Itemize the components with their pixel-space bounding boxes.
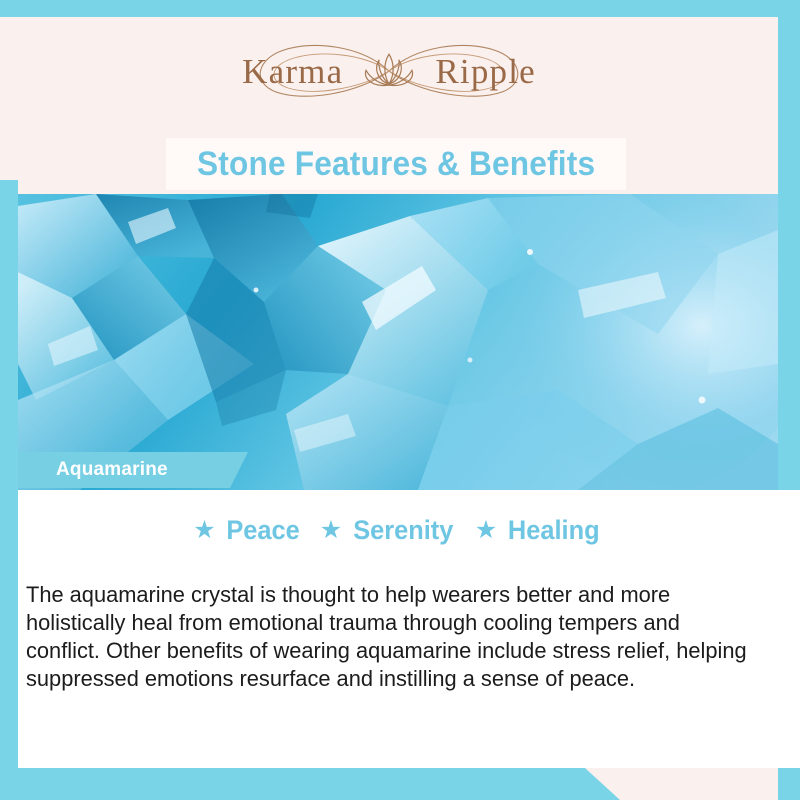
frame-band-left bbox=[0, 180, 18, 800]
brand-header: Karma Ripple bbox=[0, 17, 778, 125]
keyword-label: Healing bbox=[508, 515, 600, 546]
stone-name-banner: Aquamarine bbox=[18, 452, 248, 488]
stone-name: Aquamarine bbox=[56, 459, 168, 481]
star-icon: ★ bbox=[320, 518, 342, 543]
star-icon: ★ bbox=[193, 518, 215, 543]
aquamarine-crystal-photo bbox=[18, 194, 778, 490]
page-title: Stone Features & Benefits bbox=[197, 145, 595, 184]
brand-logo: Karma Ripple bbox=[224, 36, 554, 106]
star-icon: ★ bbox=[475, 518, 497, 543]
title-banner: Stone Features & Benefits bbox=[166, 138, 626, 190]
brand-name-left: Karma bbox=[242, 54, 343, 89]
stone-benefits-poster: Karma Ripple Stone Features & Benefits bbox=[0, 0, 800, 800]
keyword-label: Peace bbox=[226, 515, 299, 546]
keyword-healing: ★ Healing bbox=[475, 515, 603, 546]
lotus-flower-icon bbox=[358, 48, 420, 92]
frame-band-bottom bbox=[0, 768, 620, 800]
keyword-peace: ★ Peace bbox=[193, 515, 302, 546]
keyword-row: ★ Peace ★ Serenity ★ Healing bbox=[18, 512, 778, 548]
keyword-serenity: ★ Serenity bbox=[320, 515, 457, 546]
stone-description: The aquamarine crystal is thought to hel… bbox=[26, 581, 748, 693]
keyword-label: Serenity bbox=[353, 515, 453, 546]
brand-name-right: Ripple bbox=[435, 54, 536, 89]
frame-band-top bbox=[0, 0, 800, 17]
